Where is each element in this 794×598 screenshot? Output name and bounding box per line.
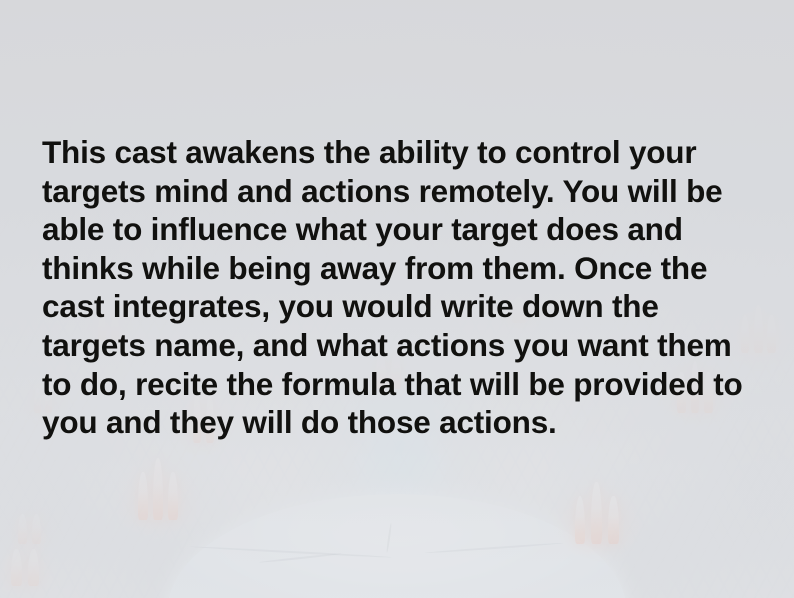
screenshot-canvas: This cast awakens the ability to control… [0, 0, 794, 598]
crystal-spire-icon [767, 315, 776, 352]
platform-crack [386, 523, 392, 553]
platform-crack [190, 546, 392, 559]
platform-crack [425, 542, 563, 554]
crystal-glow-icon [0, 546, 57, 592]
crystal-spire-icon [138, 472, 148, 520]
crystal-spire-icon [608, 496, 619, 544]
crystal-spire-icon [32, 514, 41, 544]
body-text-line: you and they will do those actions. [42, 403, 758, 442]
body-text-line: targets mind and actions remotely. You w… [42, 172, 758, 211]
crystal-glow-icon [3, 512, 56, 549]
body-text-line: cast integrates, you would write down th… [42, 287, 758, 326]
crystal-left-cluster-icon [135, 458, 181, 520]
crystal-spire-icon [11, 549, 22, 586]
body-text-line: to do, recite the formula that will be p… [42, 365, 758, 404]
crystal-spire-icon [28, 549, 39, 586]
crystal-glow-icon [114, 461, 201, 529]
body-text-line: able to influence what your target does … [42, 210, 758, 249]
crystal-right-cluster-icon [572, 482, 622, 544]
crystal-spire-icon [168, 472, 178, 520]
crystal-spire-icon [34, 388, 41, 413]
crystal-spire-icon [591, 482, 602, 544]
crystal-spire-icon [18, 514, 27, 544]
body-text-line: This cast awakens the ability to control… [42, 133, 758, 172]
crystal-spire-icon [575, 496, 586, 544]
stone-platform [167, 494, 627, 598]
crystal-spire-icon [153, 458, 163, 520]
platform-crack [259, 552, 342, 563]
body-text-line: targets name, and what actions you want … [42, 326, 758, 365]
body-text-line: thinks while being away from them. Once … [42, 249, 758, 288]
crystal-left-far-icon [8, 544, 42, 586]
body-text-block: This cast awakens the ability to control… [42, 133, 758, 442]
crystal-left-lower-icon [16, 510, 44, 544]
